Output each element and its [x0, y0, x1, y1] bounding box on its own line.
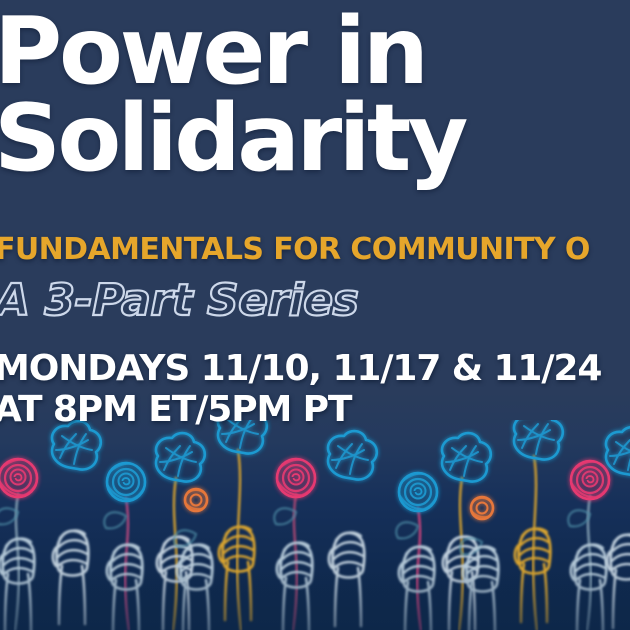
hand-with-flower — [606, 427, 630, 630]
flower-head — [471, 497, 493, 519]
flower-stem — [533, 456, 537, 630]
title-line-2: Solidarity — [0, 95, 630, 182]
hand-with-flower — [442, 433, 491, 630]
hand-with-flower — [396, 473, 437, 630]
schedule-dates: MONDAYS 11/10, 11/17 & 11/24 — [0, 348, 630, 389]
poster-text-block: Power in Solidarity FUNDAMENTALS FOR COM… — [0, 0, 630, 450]
flower-head — [399, 473, 437, 511]
flower-leaf — [104, 512, 126, 528]
hand-with-flower — [274, 459, 315, 630]
poster-canvas: Power in Solidarity FUNDAMENTALS FOR COM… — [0, 0, 630, 630]
flower-head — [107, 463, 145, 501]
title-line-1: Power in — [0, 8, 630, 95]
page-title: Power in Solidarity — [0, 8, 630, 183]
subtitle-kicker: FUNDAMENTALS FOR COMMUNITY O — [0, 232, 630, 267]
hand-with-flower — [218, 420, 267, 630]
schedule-time: AT 8PM ET/5PM PT — [0, 389, 630, 430]
flower-stem — [237, 450, 241, 630]
series-label: A 3-Part Series — [0, 275, 630, 326]
flower-head — [571, 461, 609, 499]
flower-leaf — [396, 522, 418, 538]
raised-hand — [463, 547, 499, 630]
flower-head — [185, 489, 207, 511]
raised-hand — [177, 545, 213, 630]
hand-with-flower — [52, 421, 101, 630]
flower-head — [277, 459, 315, 497]
hand-with-flower — [514, 420, 563, 630]
flower-head — [0, 459, 37, 497]
hand-with-flower — [328, 431, 377, 630]
raised-hand — [329, 533, 365, 626]
hands-with-flowers-illustration — [0, 420, 630, 630]
flower-stem — [173, 478, 177, 630]
hand-with-flower — [104, 463, 145, 630]
hand-with-flower — [568, 461, 609, 630]
raised-hand — [53, 531, 89, 624]
schedule-block: MONDAYS 11/10, 11/17 & 11/24 AT 8PM ET/5… — [0, 348, 630, 430]
hand-with-flower — [0, 459, 37, 630]
